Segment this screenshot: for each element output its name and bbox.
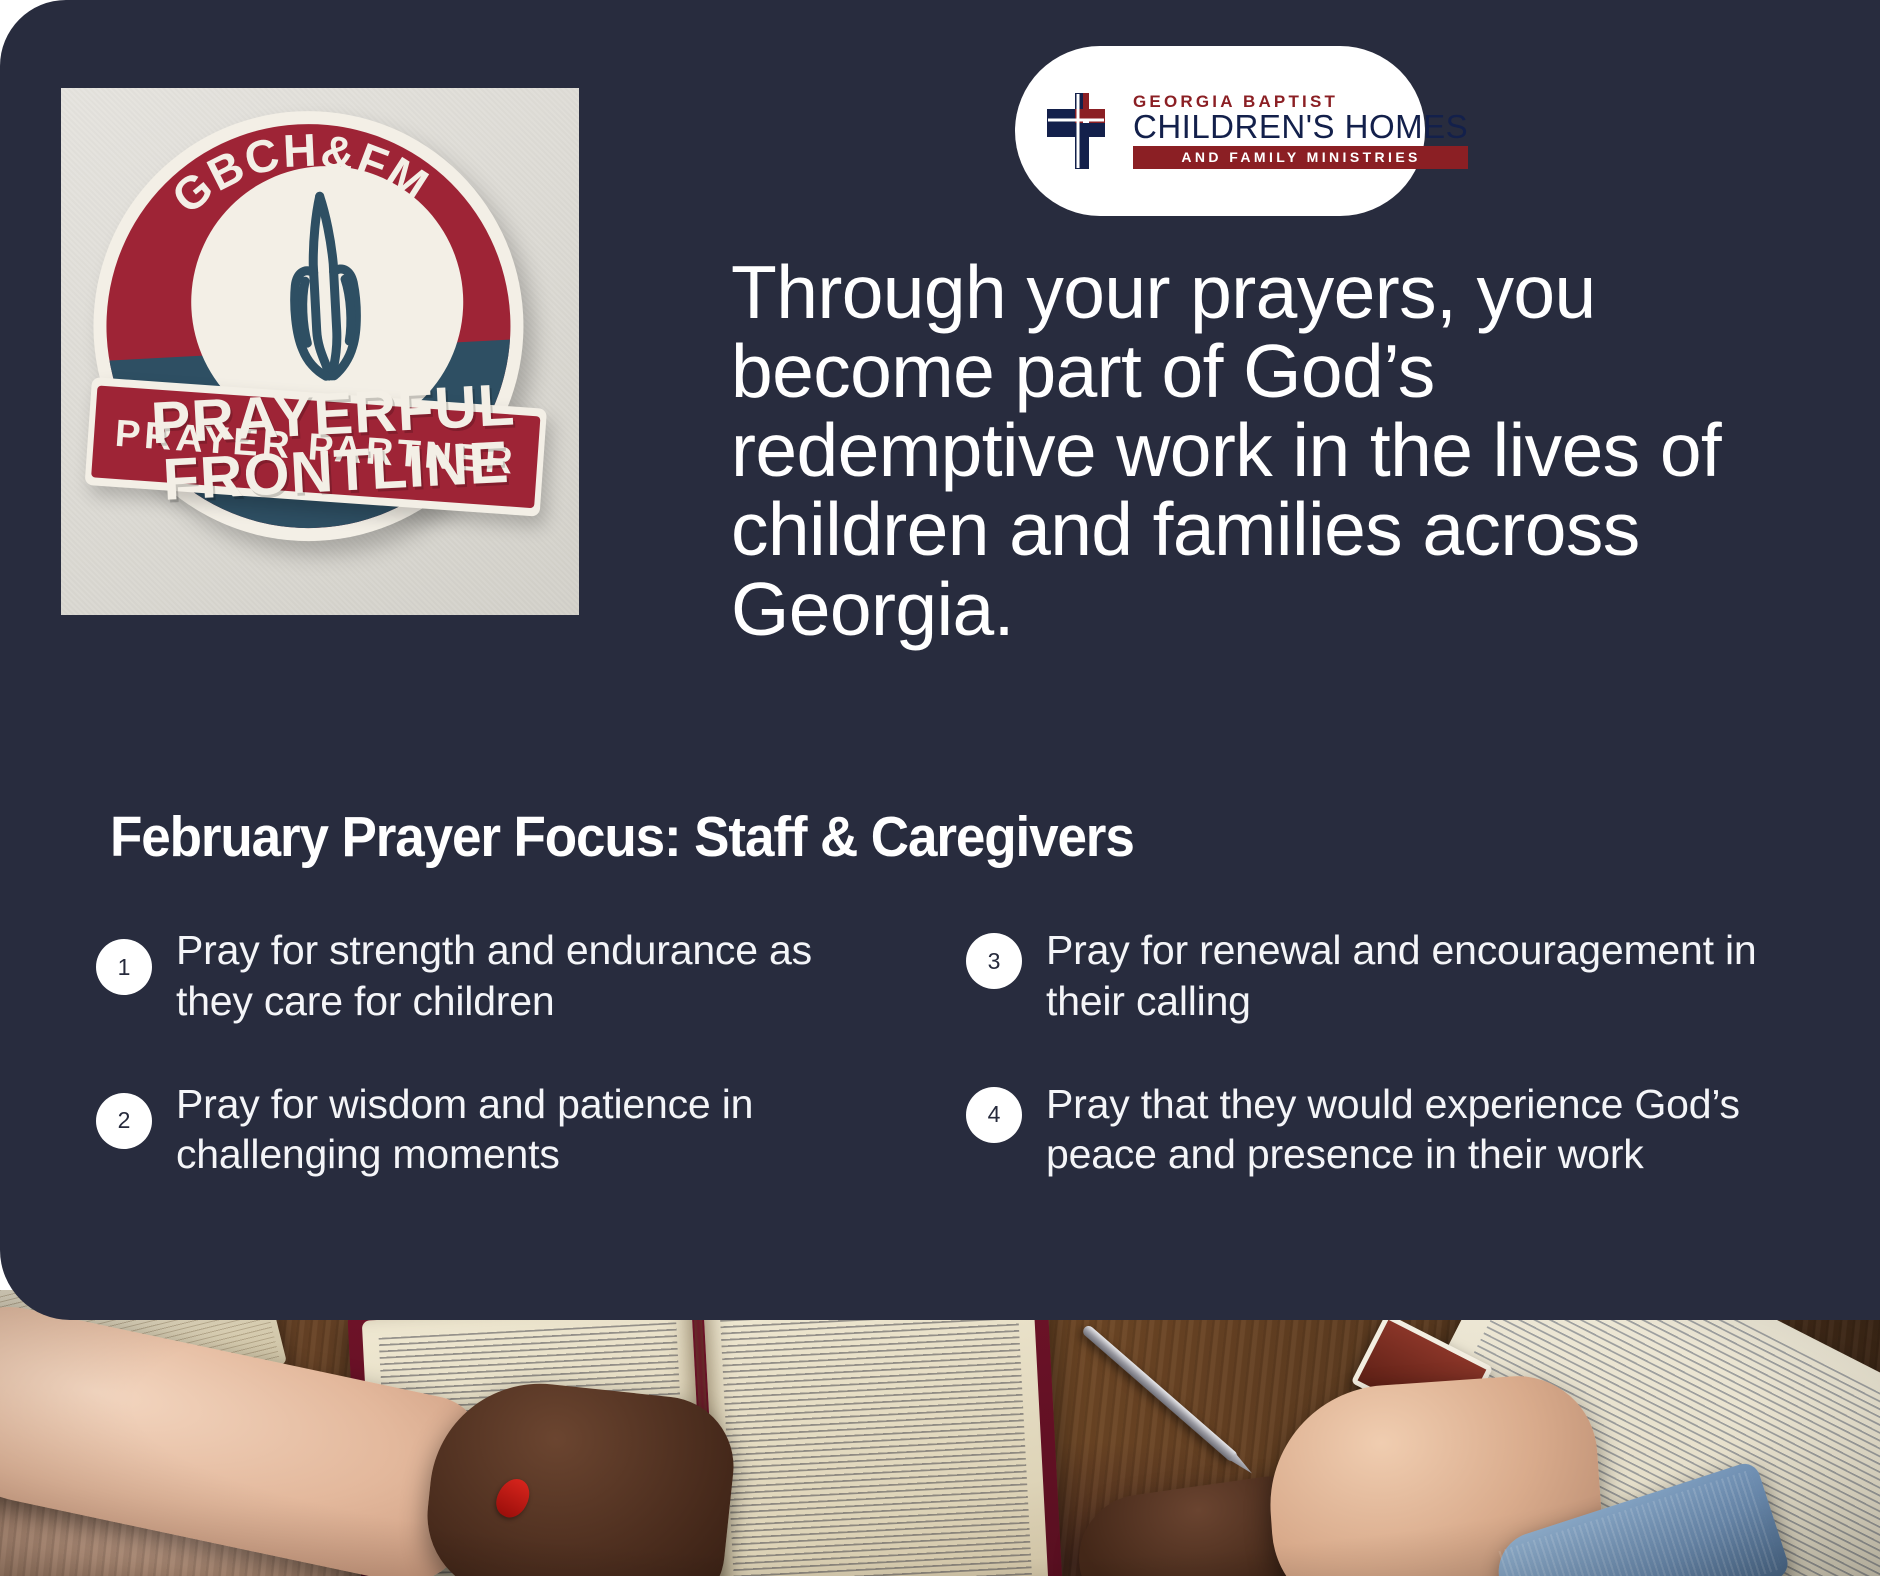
list-item-number: 1 — [96, 939, 152, 995]
brand-logo-line3: AND FAMILY MINISTRIES — [1133, 146, 1468, 169]
prayer-focus-list: 1 Pray for strength and endurance as the… — [96, 925, 1796, 1232]
prayer-hands-photo — [0, 1290, 1880, 1576]
prayer-list-column-left: 1 Pray for strength and endurance as the… — [96, 925, 896, 1232]
list-item: 3 Pray for renewal and encouragement in … — [966, 925, 1796, 1027]
brand-logo-line2: CHILDREN'S HOMES — [1133, 110, 1468, 143]
list-item-text: Pray for renewal and encouragement in th… — [1046, 925, 1796, 1027]
list-item: 1 Pray for strength and endurance as the… — [96, 925, 896, 1027]
prayerful-frontline-sticker: GBCH&FM PRAYER PARTNER PRAYERFUL FRONTLI… — [82, 98, 577, 612]
list-item-text: Pray for wisdom and patience in challeng… — [176, 1079, 896, 1181]
list-item: 4 Pray that they would experience God’s … — [966, 1079, 1796, 1181]
praying-hands-icon — [262, 177, 391, 393]
sticker-wordmark: PRAYERFUL FRONTLINE — [117, 375, 552, 511]
four-way-cross-icon — [1045, 91, 1119, 171]
prayer-focus-heading: February Prayer Focus: Staff & Caregiver… — [110, 804, 1134, 870]
photo-vignette — [0, 1290, 1880, 1576]
headline: Through your prayers, you become part of… — [731, 253, 1731, 649]
brand-logo-wordmark: GEORGIA BAPTIST CHILDREN'S HOMES AND FAM… — [1133, 93, 1468, 170]
prayer-list-column-right: 3 Pray for renewal and encouragement in … — [966, 925, 1796, 1232]
list-item-text: Pray for strength and endurance as they … — [176, 925, 896, 1027]
prayer-partner-sticker-photo: GBCH&FM PRAYER PARTNER PRAYERFUL FRONTLI… — [61, 88, 579, 615]
list-item-text: Pray that they would experience God’s pe… — [1046, 1079, 1796, 1181]
brand-logo: GEORGIA BAPTIST CHILDREN'S HOMES AND FAM… — [1015, 46, 1425, 216]
content-card: GBCH&FM PRAYER PARTNER PRAYERFUL FRONTLI… — [0, 0, 1880, 1320]
list-item-number: 2 — [96, 1093, 152, 1149]
list-item-number: 3 — [966, 933, 1022, 989]
list-item: 2 Pray for wisdom and patience in challe… — [96, 1079, 896, 1181]
list-item-number: 4 — [966, 1087, 1022, 1143]
